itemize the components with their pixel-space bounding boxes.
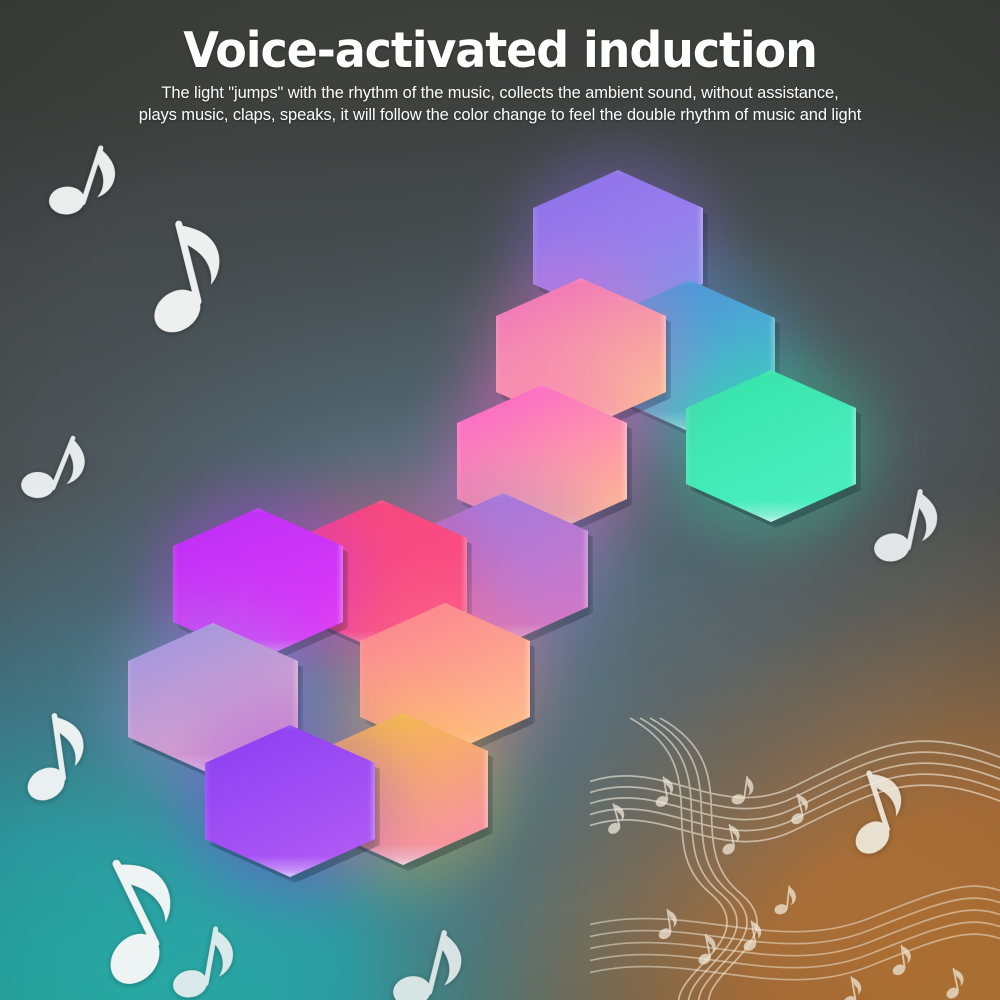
staff-line xyxy=(590,898,1000,944)
staff-line xyxy=(590,785,1000,842)
eighth-note-upper-left xyxy=(129,202,244,348)
staff-line xyxy=(590,910,1000,956)
staff-line xyxy=(590,934,1000,980)
staff-swirl xyxy=(630,718,727,1000)
staff-note xyxy=(773,885,797,917)
staff-note xyxy=(888,945,913,978)
staff-line xyxy=(590,922,1000,968)
staff-note xyxy=(738,920,764,953)
eighth-note-top-left xyxy=(42,128,130,236)
eighth-note-bottom-mid xyxy=(387,913,475,1000)
subtitle-line-2: plays music, claps, speaks, it will foll… xyxy=(0,105,1000,127)
product-banner: Voice-activated induction The light "jum… xyxy=(0,0,1000,1000)
page-subtitle: The light "jumps" with the rhythm of the… xyxy=(0,77,1000,127)
staff-note xyxy=(940,967,967,1000)
page-title: Voice-activated induction xyxy=(30,0,970,77)
subtitle-line-1: The light "jumps" with the rhythm of the… xyxy=(161,84,838,102)
eighth-note-lower-left xyxy=(15,701,97,811)
flowing-music-staff xyxy=(590,678,1000,1000)
headings-block: Voice-activated induction The light "jum… xyxy=(0,0,1000,126)
staff-note xyxy=(838,976,864,1000)
eighth-note-right xyxy=(869,475,949,579)
staff-note xyxy=(654,909,679,942)
eighth-note-mid-left xyxy=(14,417,100,519)
staff-note xyxy=(730,775,755,808)
